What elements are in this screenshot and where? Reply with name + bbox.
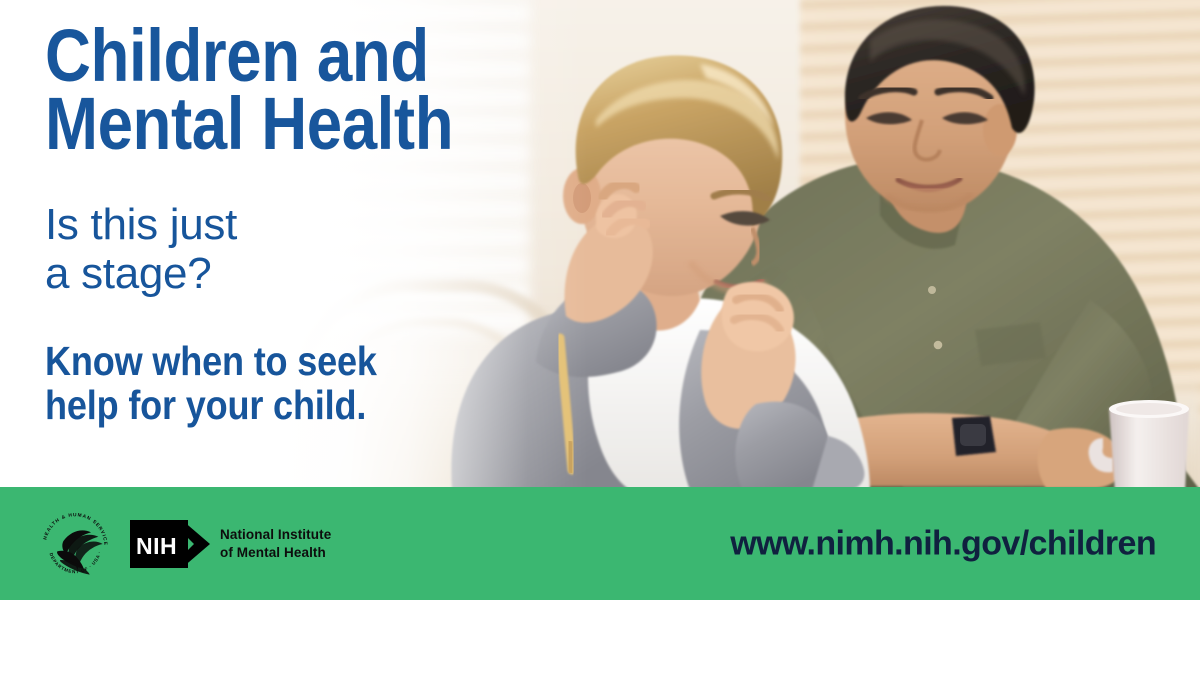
bottom-white-margin bbox=[0, 600, 1200, 680]
page-title: Children and Mental Health bbox=[45, 0, 453, 158]
nimh-children-mental-health-poster: Children and Mental Health Is this just … bbox=[0, 0, 1200, 680]
agency-logo-group: HEALTH & HUMAN SERVICES DEPARTMENT OF · … bbox=[38, 509, 331, 579]
hhs-seal-icon: HEALTH & HUMAN SERVICES DEPARTMENT OF · … bbox=[38, 509, 112, 579]
website-url[interactable]: www.nimh.nih.gov/children bbox=[730, 524, 1156, 563]
poster-text-block: Children and Mental Health Is this just … bbox=[45, 0, 520, 427]
poster-subhead: Is this just a stage? bbox=[45, 158, 520, 299]
poster-call-to-action: Know when to seek help for your child. bbox=[45, 299, 463, 428]
svg-text:NIH: NIH bbox=[136, 533, 177, 559]
nimh-institute-name: National Institute of Mental Health bbox=[220, 526, 331, 561]
nih-lockup: NIH National Institute of Mental Health bbox=[130, 520, 331, 568]
nih-logo-icon: NIH bbox=[130, 520, 210, 568]
footer-bar: HEALTH & HUMAN SERVICES DEPARTMENT OF · … bbox=[0, 487, 1200, 600]
